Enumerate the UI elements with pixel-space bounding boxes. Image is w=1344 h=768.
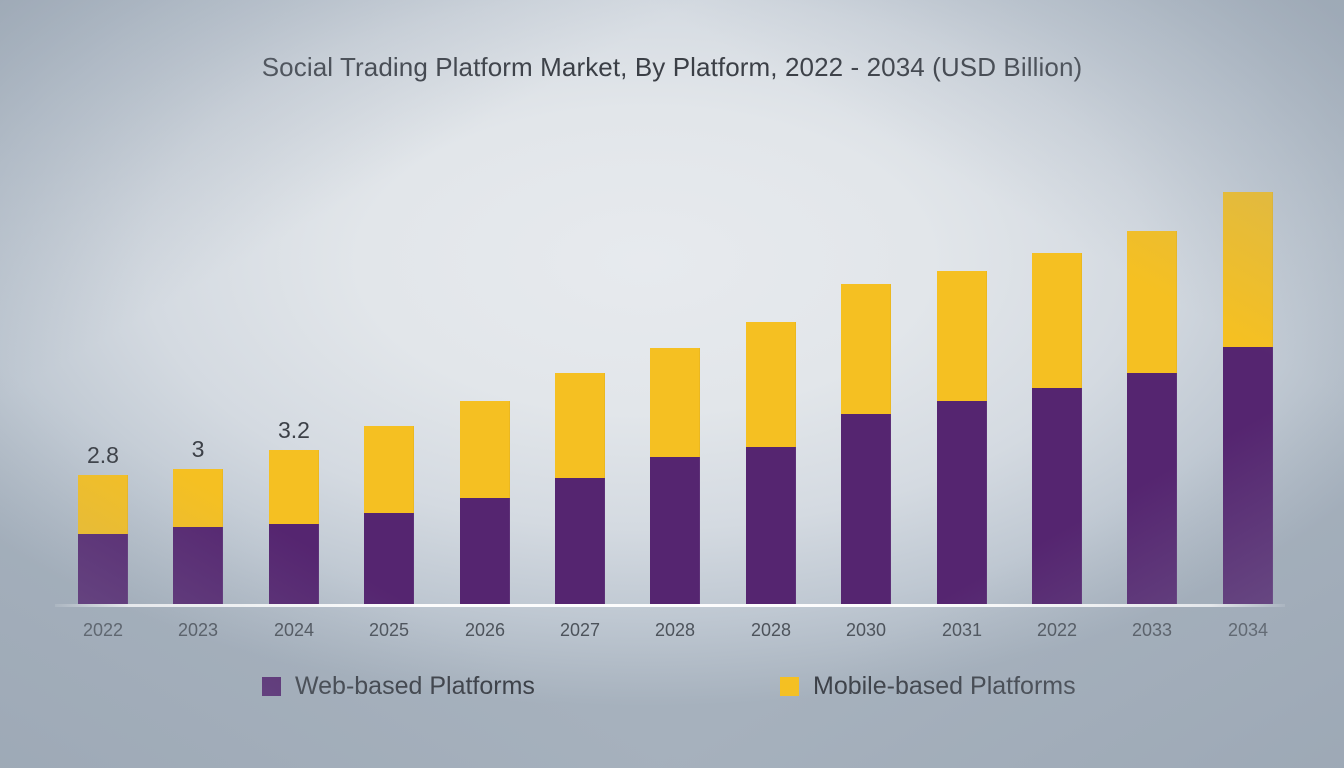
chart-legend: Web-based Platforms Mobile-based Platfor… — [0, 672, 1344, 716]
x-axis-line — [55, 604, 1285, 607]
x-axis-tick-label: 2033 — [1107, 620, 1197, 641]
bar-column[interactable] — [841, 284, 891, 604]
bar-column[interactable] — [460, 401, 510, 604]
bar-segment-mobile-based[interactable] — [460, 401, 510, 498]
bar-column[interactable] — [746, 322, 796, 604]
x-axis-tick-label: 2022 — [58, 620, 148, 641]
x-axis-tick-label: 2022 — [1012, 620, 1102, 641]
plot-area: 2.833.2 20222023202420252026202720282028… — [0, 0, 1344, 768]
bar-column[interactable]: 2.8 — [78, 475, 128, 604]
bar-column[interactable] — [937, 271, 987, 604]
bar-column[interactable] — [555, 373, 605, 604]
bar-segment-mobile-based[interactable] — [841, 284, 891, 414]
bar-segment-web-based[interactable] — [364, 513, 414, 604]
x-axis-tick-label: 2027 — [535, 620, 625, 641]
bar-segment-web-based[interactable] — [841, 414, 891, 604]
bar-column[interactable]: 3 — [173, 469, 223, 604]
bar-segment-web-based[interactable] — [269, 524, 319, 604]
legend-item-web-based-platforms[interactable]: Web-based Platforms — [262, 672, 535, 701]
x-axis-tick-label: 2023 — [153, 620, 243, 641]
bar-segment-mobile-based[interactable] — [1223, 192, 1273, 347]
bar-segment-web-based[interactable] — [555, 478, 605, 604]
bar-segment-web-based[interactable] — [1223, 347, 1273, 604]
bar-segment-web-based[interactable] — [746, 447, 796, 604]
bar-segment-web-based[interactable] — [650, 457, 700, 604]
x-axis-tick-label: 2031 — [917, 620, 1007, 641]
legend-item-mobile-based-platforms[interactable]: Mobile-based Platforms — [780, 672, 1076, 701]
bar-column[interactable] — [1223, 192, 1273, 604]
x-axis-tick-label: 2028 — [726, 620, 816, 641]
bar-segment-web-based[interactable] — [173, 527, 223, 604]
bar-segment-mobile-based[interactable] — [269, 450, 319, 524]
legend-swatch-icon-mobile — [780, 677, 799, 696]
bar-column[interactable] — [1032, 253, 1082, 604]
bar-column[interactable] — [1127, 231, 1177, 604]
bar-value-label: 3.2 — [249, 417, 339, 444]
bar-segment-web-based[interactable] — [460, 498, 510, 604]
bar-segment-mobile-based[interactable] — [937, 271, 987, 401]
x-axis-tick-label: 2026 — [440, 620, 530, 641]
legend-label-mobile: Mobile-based Platforms — [813, 672, 1076, 701]
x-axis-tick-label: 2024 — [249, 620, 339, 641]
x-axis-tick-label: 2034 — [1203, 620, 1293, 641]
bar-segment-mobile-based[interactable] — [746, 322, 796, 447]
bar-column[interactable] — [650, 348, 700, 604]
x-axis-tick-label: 2025 — [344, 620, 434, 641]
bar-column[interactable] — [364, 426, 414, 604]
legend-label-web: Web-based Platforms — [295, 672, 535, 701]
legend-swatch-icon-web — [262, 677, 281, 696]
bar-value-label: 3 — [153, 436, 243, 463]
x-axis-tick-label: 2030 — [821, 620, 911, 641]
bar-segment-mobile-based[interactable] — [173, 469, 223, 527]
bar-segment-web-based[interactable] — [1032, 388, 1082, 604]
bar-segment-mobile-based[interactable] — [555, 373, 605, 478]
bar-segment-web-based[interactable] — [78, 534, 128, 604]
bar-segment-mobile-based[interactable] — [1032, 253, 1082, 388]
bar-segment-mobile-based[interactable] — [78, 475, 128, 534]
bar-segment-web-based[interactable] — [1127, 373, 1177, 604]
x-axis-tick-label: 2028 — [630, 620, 720, 641]
bar-segment-mobile-based[interactable] — [364, 426, 414, 513]
chart-container: Social Trading Platform Market, By Platf… — [0, 0, 1344, 768]
bar-segment-mobile-based[interactable] — [1127, 231, 1177, 373]
bar-segment-mobile-based[interactable] — [650, 348, 700, 457]
bar-segment-web-based[interactable] — [937, 401, 987, 604]
bar-value-label: 2.8 — [58, 442, 148, 469]
bar-column[interactable]: 3.2 — [269, 450, 319, 604]
